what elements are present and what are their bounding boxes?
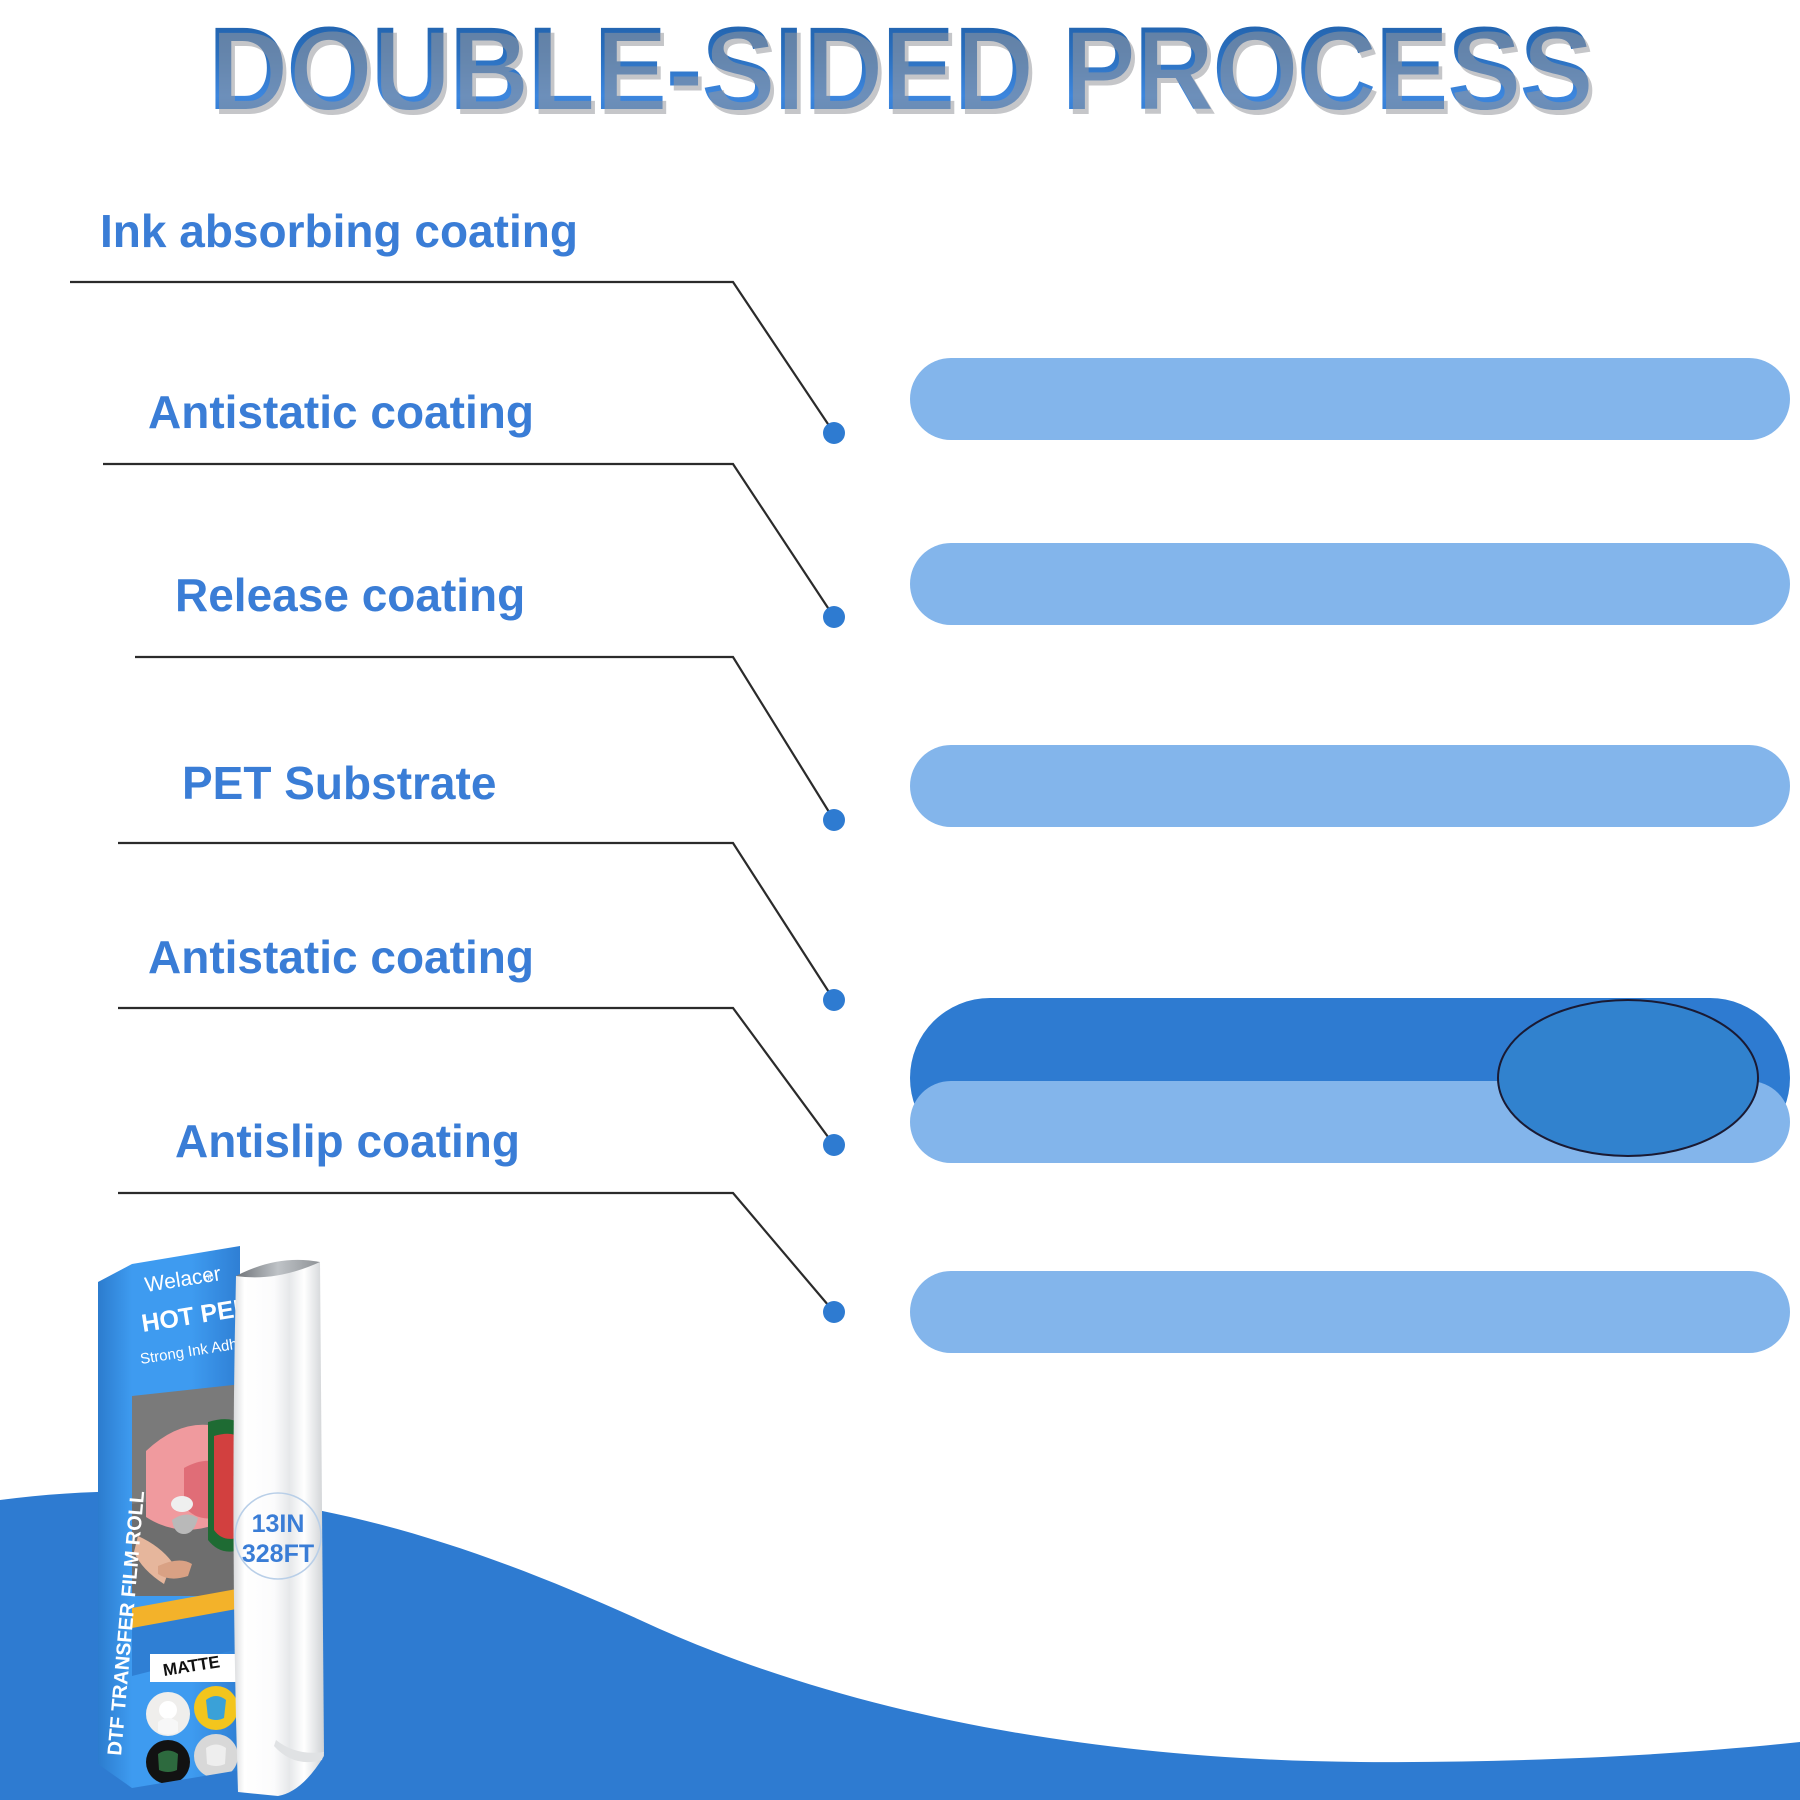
layer-label-ink-absorbing-coating: Ink absorbing coating bbox=[100, 205, 578, 257]
leader-dot-pet-substrate[interactable] bbox=[823, 989, 845, 1011]
layer-label-antistatic-coating-top: Antistatic coating bbox=[148, 386, 534, 438]
leader-dot-antistatic-coating-top[interactable] bbox=[823, 606, 845, 628]
layer-bar-antistatic-coating-top[interactable] bbox=[910, 543, 1790, 625]
roll-badge-line2: 328FT bbox=[242, 1540, 314, 1568]
layer-bar-antislip-coating[interactable] bbox=[910, 1271, 1790, 1353]
layer-label-pet-substrate: PET Substrate bbox=[182, 757, 496, 809]
leader-dot-antistatic-coating-bottom[interactable] bbox=[823, 1134, 845, 1156]
pet-substrate-highlight-ellipse[interactable] bbox=[1498, 1000, 1758, 1156]
leader-dot-antislip-coating[interactable] bbox=[823, 1301, 845, 1323]
roll-badge-line1: 13IN bbox=[252, 1510, 305, 1538]
leader-dot-ink-absorbing-coating[interactable] bbox=[823, 422, 845, 444]
layer-label-antislip-coating: Antislip coating bbox=[175, 1115, 520, 1167]
infographic-canvas: DOUBLE-SIDED PROCESS Ink absorbing coati… bbox=[0, 0, 1800, 1800]
layer-label-antistatic-coating-bottom: Antistatic coating bbox=[148, 931, 534, 983]
leader-dot-release-coating[interactable] bbox=[823, 809, 845, 831]
layer-label-release-coating: Release coating bbox=[175, 569, 525, 621]
layer-bar-ink-absorbing-coating[interactable] bbox=[910, 358, 1790, 440]
layer-bar-release-coating[interactable] bbox=[910, 745, 1790, 827]
product-image: Welacer ® HOT PEEL Strong Ink Adhesive M… bbox=[88, 1236, 408, 1800]
